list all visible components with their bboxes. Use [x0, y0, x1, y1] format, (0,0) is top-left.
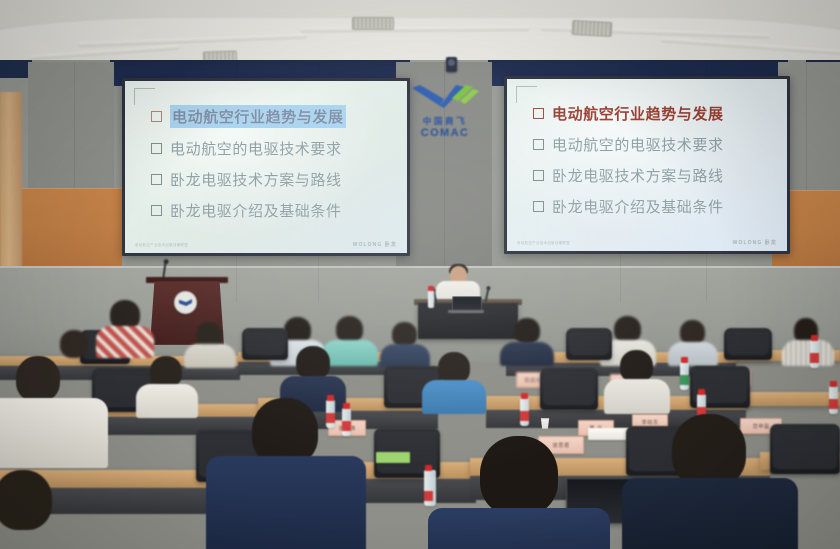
checkbox-icon [151, 143, 162, 154]
audience-head [296, 346, 330, 380]
right-projection-screen: 电动航空行业趋势与发展 电动航空的电驱技术要求 卧龙电驱技术方案与路线 卧龙电驱… [504, 76, 790, 254]
audience-head [336, 316, 363, 343]
slide-bullet-item: 卧龙电驱技术方案与路线 [533, 165, 775, 186]
water-bottle [428, 290, 434, 308]
ceiling-vent-icon [352, 17, 394, 30]
audience-body [604, 379, 670, 414]
audience-body [380, 344, 430, 368]
slide-bullet-item: 电动航空行业趋势与发展 [533, 103, 775, 124]
audience-body-foreground [206, 456, 366, 549]
audience-body [422, 380, 486, 414]
slide-footer-right: WOLONG 卧龙 [733, 239, 777, 246]
audience-head-foreground [672, 414, 746, 488]
chair [724, 328, 772, 360]
chair [540, 368, 598, 410]
slide-bullet-item: 卧龙电驱介绍及基础条件 [533, 196, 775, 217]
slide-footer-left: 电动航空产业技术创新战略联盟 [517, 240, 570, 245]
audience-body [782, 340, 834, 366]
slide-corner-mark [134, 88, 155, 105]
water-bottle [424, 470, 436, 506]
comac-swoosh-icon [410, 82, 480, 112]
podium-emblem-icon [174, 291, 197, 314]
audience-body-foreground [428, 508, 610, 549]
checkbox-icon [533, 201, 544, 212]
slide-footer-right: WOLONG 卧龙 [353, 241, 397, 248]
checkbox-icon [151, 205, 162, 216]
ceiling-vent-icon [572, 20, 613, 37]
water-bottle [520, 398, 529, 426]
audience-body [668, 342, 718, 366]
slide-bullet-item: 卧龙电驱介绍及基础条件 [151, 200, 395, 221]
checkbox-icon [533, 170, 544, 181]
checkbox-icon [151, 111, 162, 122]
audience-head-foreground [0, 470, 52, 530]
slide-bullet-item: 电动航空行业趋势与发展 [151, 105, 395, 128]
security-camera-icon [446, 57, 457, 72]
chair [242, 328, 288, 360]
left-projection-screen: 电动航空行业趋势与发展 电动航空的电驱技术要求 卧龙电驱技术方案与路线 卧龙电驱… [122, 78, 410, 256]
water-bottle [810, 340, 819, 368]
chair [770, 424, 840, 474]
open-notebook [588, 428, 630, 440]
audience-body [136, 384, 198, 418]
checkbox-icon [533, 108, 544, 119]
slide-corner-mark [516, 86, 537, 103]
comac-logo-mark [410, 82, 480, 112]
slide-bullet-label: 卧龙电驱介绍及基础条件 [170, 200, 342, 221]
slide-bullet-label: 卧龙电驱介绍及基础条件 [552, 196, 724, 217]
conference-room-photo: 中国商飞 COMAC 电动航空行业趋势与发展 电动航空的电驱技术要求 卧龙电驱技… [0, 0, 840, 549]
slide-footer: 电动航空产业技术创新战略联盟 WOLONG 卧龙 [517, 239, 777, 246]
water-bottle [829, 386, 838, 414]
slide-bullet-item: 电动航空的电驱技术要求 [151, 138, 395, 159]
audience-head [60, 330, 88, 358]
audience-head [514, 318, 540, 344]
slide-bullet-label: 卧龙电驱技术方案与路线 [552, 165, 724, 186]
slide-footer-left: 电动航空产业技术创新战略联盟 [135, 242, 188, 247]
speaker-laptop-base [448, 310, 484, 313]
checkbox-icon [151, 174, 162, 185]
audience-head [614, 316, 641, 343]
audience-body-foreground [622, 478, 798, 549]
slide-bullet-label: 电动航空行业趋势与发展 [552, 103, 724, 124]
green-paper [376, 452, 410, 463]
slide-bullet-list: 电动航空行业趋势与发展 电动航空的电驱技术要求 卧龙电驱技术方案与路线 卧龙电驱… [151, 105, 395, 231]
audience-body [322, 340, 378, 366]
slide-footer: 电动航空产业技术创新战略联盟 WOLONG 卧龙 [135, 241, 397, 248]
slide-bullet-item: 电动航空的电驱技术要求 [533, 134, 775, 155]
audience-body [0, 398, 108, 468]
audience-head-foreground [480, 436, 558, 516]
water-bottle [680, 362, 689, 390]
comac-logo: 中国商飞 COMAC [406, 82, 484, 154]
slide-bullet-item: 卧龙电驱技术方案与路线 [151, 169, 395, 190]
comac-logo-cn-text: 中国商飞 [406, 115, 484, 127]
comac-logo-en-text: COMAC [406, 127, 484, 139]
chair [566, 328, 612, 360]
audience-body [184, 344, 236, 368]
checkbox-icon [533, 139, 544, 150]
audience-body [500, 342, 554, 366]
water-bottle [326, 400, 335, 428]
slide-bullet-label: 电动航空的电驱技术要求 [170, 138, 342, 159]
slide-bullet-label: 电动航空行业趋势与发展 [170, 105, 346, 128]
slide-bullet-label: 卧龙电驱技术方案与路线 [170, 169, 342, 190]
slide-bullet-label: 电动航空的电驱技术要求 [552, 134, 724, 155]
audience-body [96, 326, 154, 358]
slide-bullet-list: 电动航空行业趋势与发展 电动航空的电驱技术要求 卧龙电驱技术方案与路线 卧龙电驱… [533, 103, 775, 227]
wall-seam [0, 266, 840, 268]
audience-head [16, 356, 60, 402]
water-bottle [342, 408, 351, 436]
desk-row [744, 392, 840, 406]
